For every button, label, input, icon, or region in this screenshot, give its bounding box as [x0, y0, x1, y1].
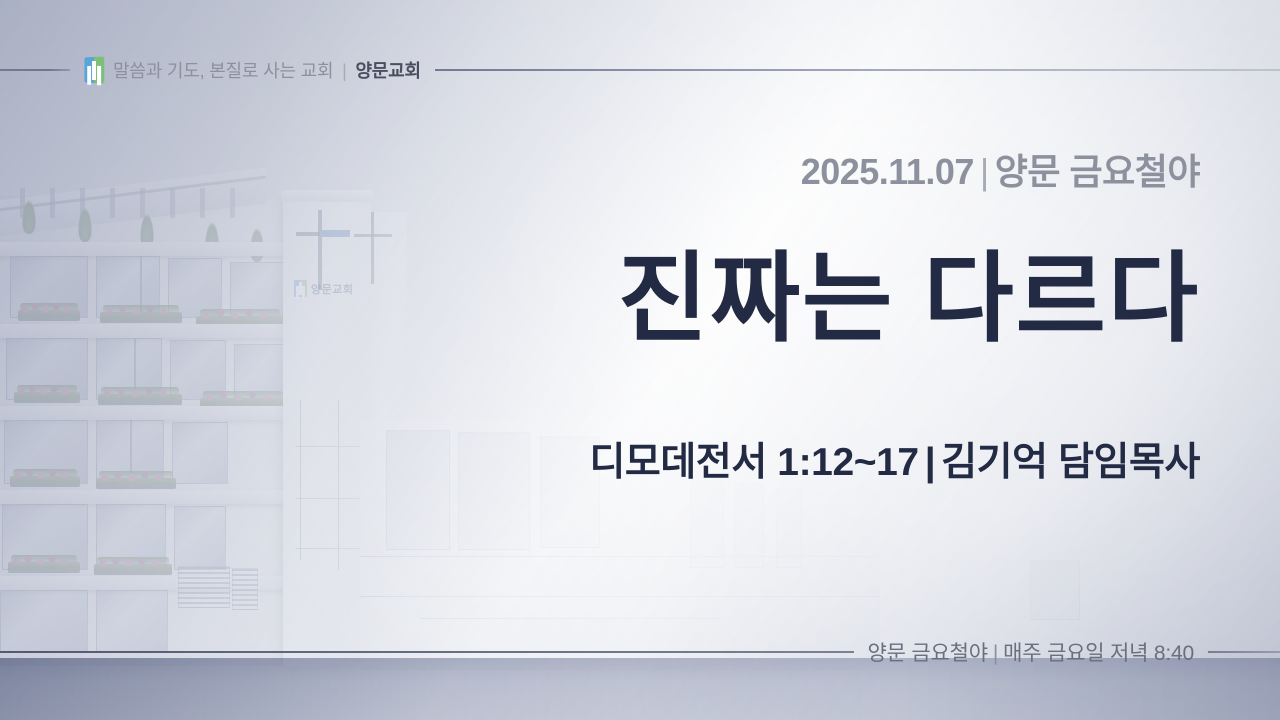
header-brand-text: 말씀과 기도, 본질로 사는 교회 | 양문교회 — [113, 57, 421, 83]
footer-separator: | — [988, 642, 1003, 665]
header-rule-right — [435, 69, 1280, 71]
header-rule-left — [0, 69, 70, 71]
sermon-date: 2025.11.07 — [801, 151, 974, 192]
open-door-cross-icon — [84, 57, 104, 84]
footer-rule-left — [0, 651, 854, 653]
sermon-title-slide: 양문교회 말씀과 기도, 본질로 사는 교회 | — [0, 0, 1280, 720]
date-separator: | — [974, 151, 995, 192]
speaker-name: 김기억 담임목사 — [941, 441, 1200, 484]
footer-schedule: 매주 금요일 저녁 8:40 — [1003, 642, 1194, 665]
footer-rule-right — [1208, 651, 1280, 653]
slide-footer: 양문 금요철야|매주 금요일 저녁 8:40 — [0, 639, 1280, 665]
date-and-service-line: 2025.11.07|양문 금요철야 — [440, 150, 1200, 193]
footer-text: 양문 금요철야|매주 금요일 저녁 8:40 — [868, 637, 1194, 667]
slide-main: 2025.11.07|양문 금요철야 진짜는 다르다 디모데전서 1:12~17… — [440, 150, 1200, 487]
sermon-title: 진짜는 다르다 — [440, 245, 1200, 353]
service-name: 양문 금요철야 — [995, 151, 1200, 192]
slide-header: 말씀과 기도, 본질로 사는 교회 | 양문교회 — [0, 56, 1280, 84]
scripture-separator: | — [919, 441, 942, 484]
header-separator: | — [338, 61, 350, 81]
scripture-reference: 디모데전서 1:12~17 — [589, 441, 918, 484]
header-church-name: 양문교회 — [355, 61, 420, 81]
footer-service-name: 양문 금요철야 — [868, 642, 988, 665]
scripture-and-speaker-line: 디모데전서 1:12~17|김기억 담임목사 — [440, 431, 1200, 487]
bottom-shade-warm — [0, 658, 1280, 720]
header-slogan: 말씀과 기도, 본질로 사는 교회 — [113, 61, 333, 81]
